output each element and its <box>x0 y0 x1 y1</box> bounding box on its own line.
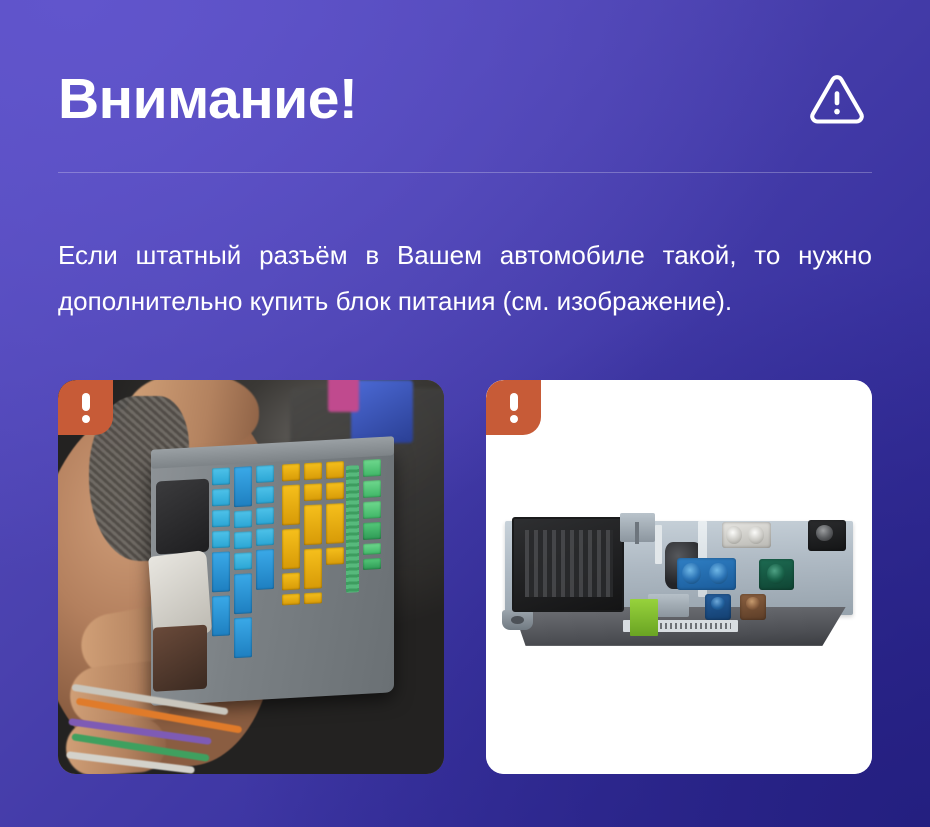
pin-column-blue-2 <box>233 466 251 692</box>
warning-triangle-icon <box>806 68 868 130</box>
fakra-brown <box>740 594 766 620</box>
pin-column-blue-3 <box>255 465 273 691</box>
connector-black-block <box>155 478 208 554</box>
pin-column-yellow-2 <box>304 462 322 688</box>
wire-harness <box>66 687 305 774</box>
metal-clip <box>620 513 655 542</box>
pin-column-blue-1 <box>211 467 229 693</box>
exclamation-badge-right <box>486 380 541 435</box>
fakra-blue-pair <box>677 558 736 591</box>
notice-paragraph: Если штатный разъём в Вашем автомобиле т… <box>58 232 872 324</box>
page-title: Внимание! <box>58 71 357 128</box>
mounting-ear <box>502 610 533 631</box>
photo-card-row <box>58 380 872 774</box>
exclamation-icon <box>510 393 518 411</box>
connector-brown-block <box>153 625 206 691</box>
exclamation-dot <box>82 415 90 423</box>
power-supply-module-photo <box>486 380 872 774</box>
side-sticker <box>655 525 663 564</box>
exclamation-badge-left <box>58 380 113 435</box>
fakra-green <box>759 559 794 590</box>
fakra-small-blue <box>705 594 731 620</box>
stock-connector-photo <box>58 380 444 774</box>
fakra-black <box>808 520 846 551</box>
page-header: Внимание! <box>58 54 872 144</box>
background-pink-part <box>328 380 359 412</box>
power-supply-module-card[interactable] <box>486 380 872 774</box>
green-fuse-tab <box>630 599 658 635</box>
stock-connector-card[interactable] <box>58 380 444 774</box>
exclamation-dot <box>510 415 518 423</box>
pin-column-yellow-3 <box>326 461 344 687</box>
exclamation-icon <box>82 393 90 411</box>
power-supply-device <box>505 516 852 646</box>
notice-line-2: дополнительно купить блок питания (см. и… <box>58 278 872 324</box>
attention-notice-page: Внимание! Если штатный разъём в Вашем ав… <box>0 0 930 827</box>
fakra-white-pair <box>722 522 771 548</box>
background-blue-part <box>351 380 413 443</box>
notice-line-1: Если штатный разъём в Вашем автомобиле т… <box>58 232 872 278</box>
header-divider <box>58 172 872 173</box>
quadlock-connector <box>512 517 624 612</box>
automotive-connector <box>151 448 394 706</box>
pin-column-green-ribbed <box>345 465 358 593</box>
pin-column-green-1 <box>362 459 380 685</box>
pin-column-yellow-1 <box>282 463 300 689</box>
